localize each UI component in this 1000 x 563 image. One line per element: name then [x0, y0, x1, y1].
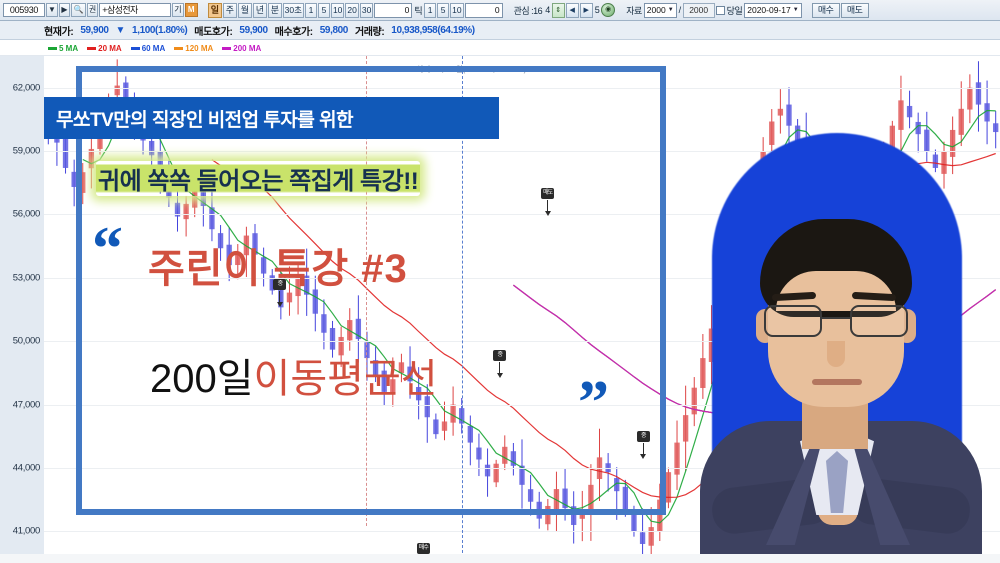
- minute-unit-10[interactable]: 10: [331, 3, 344, 18]
- watchlist-group: 관심 :16 4 ⇕ ◀ ▶ 5 ◉: [513, 3, 616, 18]
- dropdown-icon[interactable]: ▼: [46, 3, 58, 17]
- glasses-lens-right: [850, 305, 908, 337]
- legend-label: 20 MA: [98, 44, 122, 53]
- next-arrow-icon[interactable]: ▶: [580, 3, 593, 18]
- chart-marker[interactable]: 매수: [417, 543, 430, 554]
- chart-toolbar: 005930 ▼ ▶ 🔍 권 +삼성전자 기 M 일 주 월 년 분 30초 1…: [0, 0, 1000, 21]
- next-icon[interactable]: ▶: [59, 3, 70, 17]
- period-group: 일 주 월 년 분 30초 1 5 10 20 30 0 틱 1 5 10 0: [208, 3, 503, 18]
- search-scope-button[interactable]: 권: [87, 3, 98, 17]
- volume-label: 거래량:: [355, 23, 384, 38]
- y-axis-tick: 59,000: [13, 146, 40, 157]
- data-label: 자료: [625, 4, 643, 17]
- legend-dash-icon: [131, 47, 140, 50]
- y-axis-tick: 50,000: [13, 336, 40, 347]
- chevron-down-icon: ▼: [793, 4, 799, 17]
- y-axis-tick: 47,000: [13, 399, 40, 410]
- y-axis-tick: 56,000: [13, 209, 40, 220]
- stock-code-input[interactable]: 005930: [3, 3, 45, 17]
- tick-unit-1[interactable]: 1: [424, 3, 436, 18]
- tick-unit-5[interactable]: 5: [437, 3, 449, 18]
- date-value: 2020-09-17: [747, 4, 790, 17]
- watchlist-number: 4: [544, 5, 551, 15]
- legend-dash-icon: [222, 47, 231, 50]
- today-checkbox[interactable]: [716, 6, 725, 15]
- spinner-icon[interactable]: ⇕: [552, 3, 565, 18]
- date-select[interactable]: 2020-09-17 ▼: [744, 3, 801, 18]
- bid-price-label: 매수호가:: [275, 23, 313, 38]
- data-count-group: 자료 2000 ▼ / 2000 당일 2020-09-17 ▼: [625, 3, 801, 18]
- legend-dash-icon: [48, 47, 57, 50]
- legend-label: 5 MA: [59, 44, 78, 53]
- data-count-value: 2000: [647, 4, 666, 17]
- period-button-year[interactable]: 년: [253, 3, 267, 18]
- page-value[interactable]: 5: [594, 5, 601, 15]
- legend-item-20-ma: 20 MA: [87, 44, 122, 53]
- tick-value-input[interactable]: 0: [465, 3, 503, 18]
- y-axis-tick: 44,000: [13, 462, 40, 473]
- y-axis-tick: 41,000: [13, 526, 40, 537]
- overlay-banner: 무쏘TV만의 직장인 비전업 투자를 위한: [44, 97, 499, 139]
- glasses-lens-left: [764, 305, 822, 337]
- period-button-minute[interactable]: 분: [268, 3, 282, 18]
- symbol-group: 005930 ▼ ▶ 🔍 권 +삼성전자 기 M: [3, 3, 198, 17]
- ask-price-label: 매도호가:: [194, 23, 232, 38]
- period-button-month[interactable]: 월: [238, 3, 252, 18]
- portrait-glasses: [762, 305, 910, 339]
- presenter-portrait: [690, 53, 1000, 563]
- minute-unit-5[interactable]: 5: [318, 3, 330, 18]
- today-label: 당일: [726, 4, 744, 17]
- overlay-subtitle-text: 귀에 쏙쏙 들어오는 쪽집게 특강!!: [96, 161, 420, 196]
- y-axis-tick: 53,000: [13, 272, 40, 283]
- data-count-select[interactable]: 2000 ▼: [644, 3, 677, 18]
- legend-item-120-ma: 120 MA: [174, 44, 213, 53]
- bottom-strip: [0, 554, 1000, 563]
- legend-item-60-ma: 60 MA: [131, 44, 166, 53]
- order-group: 매수 매도: [812, 3, 869, 18]
- price-info-bar: 현재가: 59,900 ▼ 1,100(1.80%) 매도호가: 59,900 …: [0, 21, 1000, 40]
- overlay-banner-text: 무쏘TV만의 직장인 비전업 투자를 위한: [56, 105, 353, 132]
- legend-item-5-ma: 5 MA: [48, 44, 78, 53]
- buy-button[interactable]: 매수: [812, 3, 840, 18]
- stock-name-input[interactable]: +삼성전자: [99, 3, 171, 17]
- prev-icon[interactable]: ◀: [566, 3, 579, 18]
- change-value: 1,100(1.80%): [132, 25, 187, 36]
- overlay-headline-secondary: 200일이동평균선: [150, 346, 438, 404]
- ask-price-value: 59,900: [239, 25, 267, 36]
- search-icon[interactable]: 🔍: [71, 3, 86, 17]
- y-axis-tick: 62,000: [13, 82, 40, 93]
- overlay-headline-primary: 주린이 특강 #3: [148, 236, 408, 294]
- overlay-headline-secondary-red: 이동평균선: [254, 357, 438, 401]
- period-button-week[interactable]: 주: [223, 3, 237, 18]
- sell-button[interactable]: 매도: [841, 3, 869, 18]
- data-total-value: 2000: [683, 3, 715, 18]
- volume-value: 10,938,958(64.19%): [391, 25, 474, 36]
- legend-item-200-ma: 200 MA: [222, 44, 261, 53]
- legend-label: 200 MA: [233, 44, 261, 53]
- bid-price-value: 59,800: [320, 25, 348, 36]
- tick-label: 틱: [413, 4, 423, 17]
- period-button-day[interactable]: 일: [208, 3, 222, 18]
- quote-close-icon: ”: [578, 372, 609, 434]
- chevron-down-icon: ▼: [668, 4, 674, 17]
- market-badge[interactable]: M: [185, 3, 198, 17]
- application-window: 005930 ▼ ▶ 🔍 권 +삼성전자 기 M 일 주 월 년 분 30초 1…: [0, 0, 1000, 563]
- portrait-mouth: [812, 379, 862, 385]
- y-axis: 62,00059,00056,00053,00050,00047,00044,0…: [0, 56, 44, 563]
- overlay-headline-secondary-black: 200일: [150, 357, 254, 401]
- current-price-value: 59,900: [80, 25, 108, 36]
- watchlist-label: 관심 :16: [513, 4, 544, 17]
- minute-unit-30s[interactable]: 30초: [283, 3, 304, 18]
- current-price-label: 현재가:: [44, 23, 73, 38]
- legend-dash-icon: [87, 47, 96, 50]
- minute-unit-20[interactable]: 20: [345, 3, 358, 18]
- legend-label: 60 MA: [142, 44, 166, 53]
- portrait-hair: [760, 219, 912, 317]
- minute-unit-1[interactable]: 1: [305, 3, 317, 18]
- minute-unit-30[interactable]: 30: [360, 3, 373, 18]
- legend-label: 120 MA: [185, 44, 213, 53]
- quote-open-icon: “: [92, 218, 123, 280]
- minute-value-input[interactable]: 0: [374, 3, 412, 18]
- kind-button[interactable]: 기: [172, 3, 183, 17]
- legend-dash-icon: [174, 47, 183, 50]
- portrait-nose: [827, 341, 845, 367]
- tick-unit-10[interactable]: 10: [450, 3, 463, 18]
- change-arrow-icon: ▼: [116, 25, 126, 36]
- overlay-subtitle: 귀에 쏙쏙 들어오는 쪽집게 특강!!: [96, 157, 566, 199]
- globe-icon[interactable]: ◉: [601, 3, 615, 17]
- slash-separator: /: [678, 5, 682, 15]
- glasses-bridge: [822, 317, 850, 319]
